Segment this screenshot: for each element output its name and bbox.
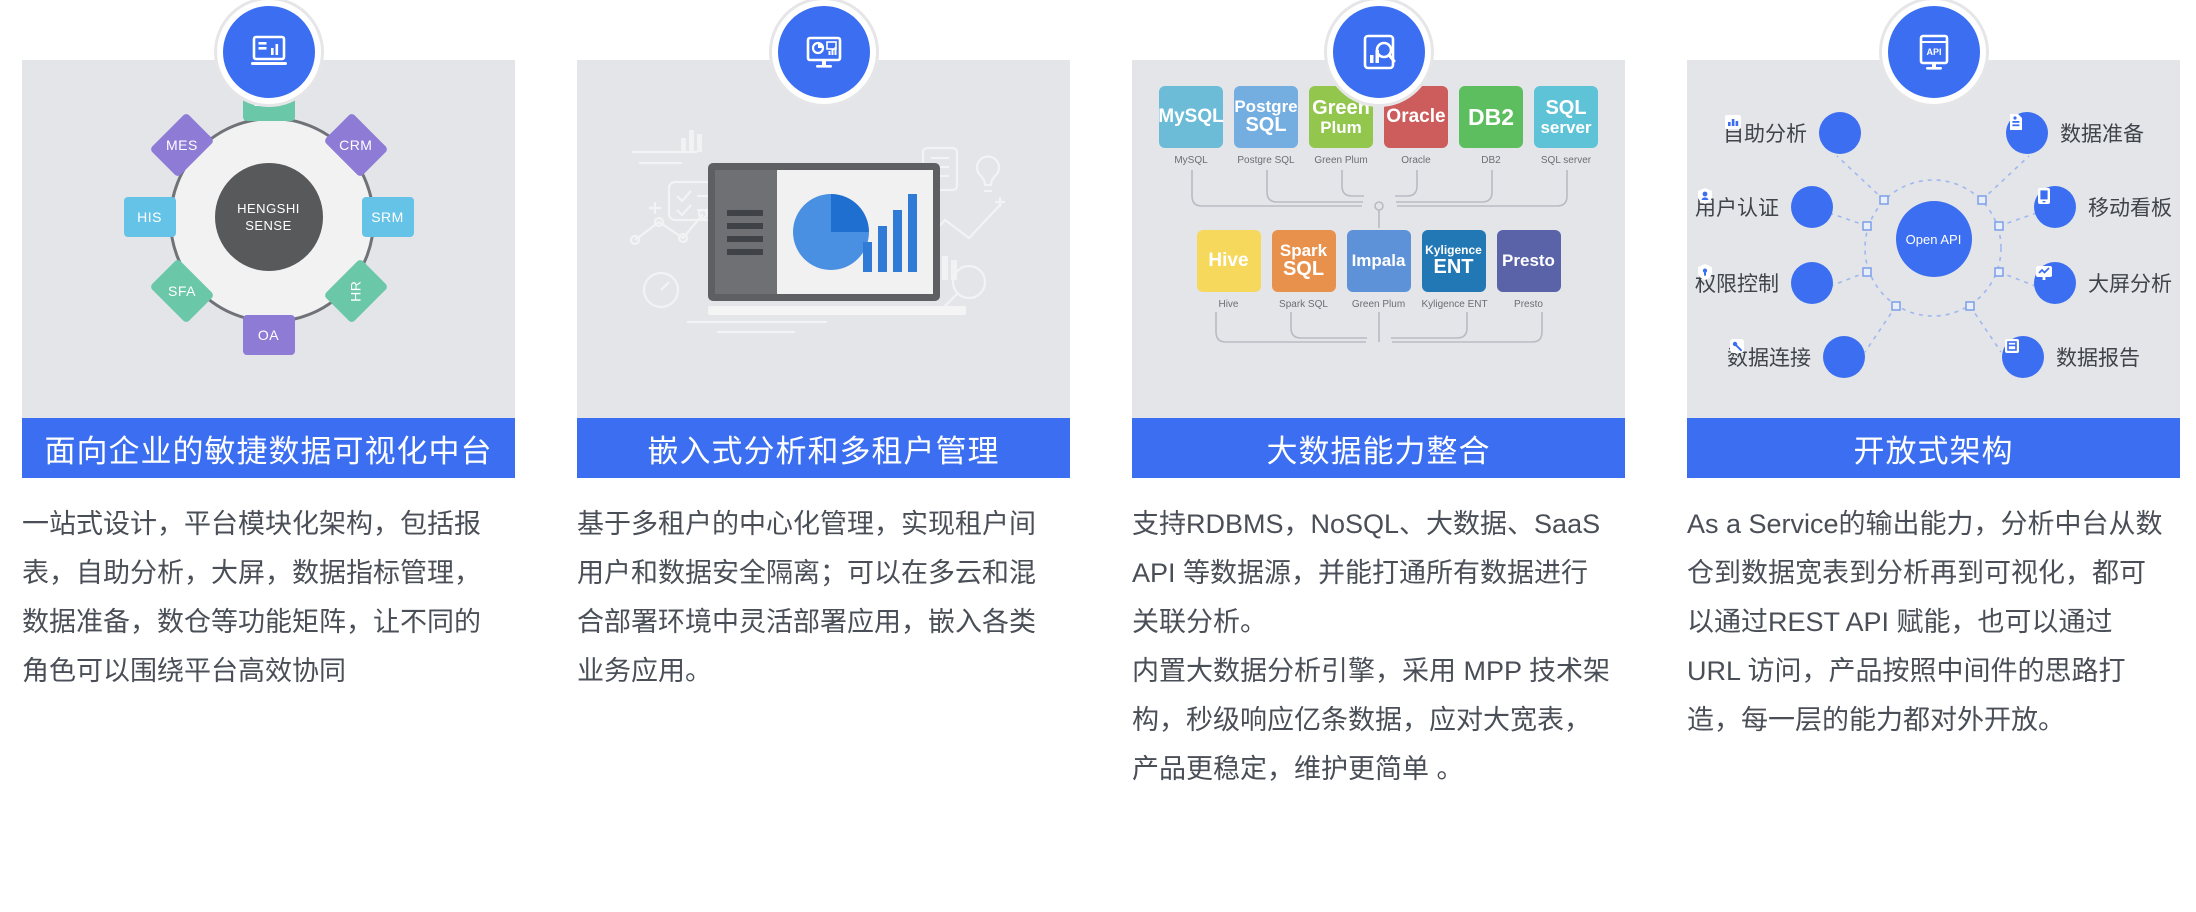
card-1-illustration: HENGSHI SENSE ERP CRM SRM HR OA SFA HIS … <box>22 60 515 418</box>
card-3-title: 大数据能力整合 <box>1132 418 1625 478</box>
plug-link-icon <box>1823 336 1865 378</box>
card-2-paragraph-1: 基于多租户的中心化管理，实现租户间用户和数据安全隔离；可以在多云和混合部署环境中… <box>577 500 1060 696</box>
connector-top <box>1132 168 1625 228</box>
shield-lock-icon <box>1791 262 1833 304</box>
card-1-body: 一站式设计，平台模块化架构，包括报表，自助分析，大屏，数据指标管理，数据准备，数… <box>22 500 515 696</box>
pie-chart <box>793 194 869 270</box>
card-3-body: 支持RDBMS，NoSQL、大数据、SaaS API 等数据源，并能打通所有数据… <box>1132 500 1625 794</box>
datasource-item: Kyligence ENT Kyligence ENT <box>1422 230 1486 310</box>
datasource-row-bottom: Hive Hive Spark SQL Spark SQL Impala <box>1132 230 1625 310</box>
network-node-data-prep: 数据准备 <box>2006 112 2144 154</box>
hub-label-line1: HENGSHI <box>237 200 300 217</box>
hub-node-srm: SRM <box>362 197 414 237</box>
card-4-body: As a Service的输出能力，分析中台从数仓到数据宽表到分析再到可视化，都… <box>1687 500 2180 745</box>
cards-row: HENGSHI SENSE ERP CRM SRM HR OA SFA HIS … <box>0 0 2196 912</box>
hub-label-line2: SENSE <box>245 217 292 234</box>
datasource-item: MySQL MySQL <box>1159 86 1223 166</box>
open-api-label: Open API <box>1906 232 1962 247</box>
screen-sidebar <box>715 170 777 294</box>
card-1-title: 面向企业的敏捷数据可视化中台 <box>22 418 515 478</box>
card-2-title: 嵌入式分析和多租户管理 <box>577 418 1070 478</box>
open-api-network: Open API 自助分析 用户认证 <box>1687 60 2180 418</box>
datasource-item: Hive Hive <box>1197 230 1261 310</box>
dashboard-screen-icon <box>217 0 321 104</box>
card-2-body: 基于多租户的中心化管理，实现租户间用户和数据安全隔离；可以在多云和混合部署环境中… <box>577 500 1070 696</box>
card-3-illustration: MySQL MySQL Postgre SQL Postgre SQL <box>1132 60 1625 418</box>
network-node-self-analysis: 自助分析 <box>1723 112 1861 154</box>
datasource-item: DB2 DB2 <box>1459 86 1523 166</box>
laptop-screen <box>708 163 940 301</box>
network-node-permission: 权限控制 <box>1695 262 1833 304</box>
monitor-analytics-icon <box>772 0 876 104</box>
api-monitor-icon: API <box>1882 0 1986 104</box>
card-3-paragraph-1: 支持RDBMS，NoSQL、大数据、SaaS API 等数据源，并能打通所有数据… <box>1132 500 1615 647</box>
open-api-center: Open API <box>1896 201 1972 277</box>
bar-chart-icon <box>1819 112 1861 154</box>
datasource-item: SQL server SQL server <box>1534 86 1598 166</box>
datasource-grid: MySQL MySQL Postgre SQL Postgre SQL <box>1132 86 1625 374</box>
document-icon <box>2006 112 2048 154</box>
screen-canvas <box>777 170 933 294</box>
card-2-illustration <box>577 60 1070 418</box>
connector-bottom <box>1132 312 1625 372</box>
user-verify-icon <box>1791 186 1833 228</box>
datasource-item: Impala Green Plum <box>1347 230 1411 310</box>
network-node-big-screen: 大屏分析 <box>2034 262 2172 304</box>
network-node-user-auth: 用户认证 <box>1695 186 1833 228</box>
hub-center: HENGSHI SENSE <box>215 163 323 271</box>
feature-cards-board: HENGSHI SENSE ERP CRM SRM HR OA SFA HIS … <box>0 0 2196 912</box>
bigdata-search-icon <box>1327 0 1431 104</box>
card-4-title: 开放式架构 <box>1687 418 2180 478</box>
big-screen-icon <box>2034 262 2076 304</box>
datasource-item: Spark SQL Spark SQL <box>1272 230 1336 310</box>
network-node-data-report: 数据报告 <box>2002 336 2140 378</box>
network-node-mobile-board: 移动看板 <box>2034 186 2172 228</box>
hub-and-spoke-diagram: HENGSHI SENSE ERP CRM SRM HR OA SFA HIS … <box>104 89 434 389</box>
laptop-base <box>708 306 966 315</box>
bar-chart <box>863 194 917 272</box>
feature-card-2: 嵌入式分析和多租户管理 基于多租户的中心化管理，实现租户间用户和数据安全隔离；可… <box>577 0 1070 696</box>
hub-node-oa: OA <box>243 315 295 355</box>
card-1-paragraph-1: 一站式设计，平台模块化架构，包括报表，自助分析，大屏，数据指标管理，数据准备，数… <box>22 500 505 696</box>
feature-card-1: HENGSHI SENSE ERP CRM SRM HR OA SFA HIS … <box>22 0 515 696</box>
hub-node-his: HIS <box>124 197 176 237</box>
network-node-data-connection: 数据连接 <box>1727 336 1865 378</box>
feature-card-4: API <box>1687 0 2180 745</box>
mobile-board-icon <box>2034 186 2076 228</box>
datasource-item: Postgre SQL Postgre SQL <box>1234 86 1298 166</box>
card-3-paragraph-2: 内置大数据分析引擎，采用 MPP 技术架构，秒级响应亿条数据，应对大宽表，产品更… <box>1132 647 1615 794</box>
datasource-item: Presto Presto <box>1497 230 1561 310</box>
card-4-paragraph-1: As a Service的输出能力，分析中台从数仓到数据宽表到分析再到可视化，都… <box>1687 500 2170 745</box>
report-icon <box>2002 336 2044 378</box>
feature-card-3: MySQL MySQL Postgre SQL Postgre SQL <box>1132 0 1625 794</box>
laptop-dashboard <box>708 163 940 315</box>
svg-text:API: API <box>1926 47 1941 57</box>
card-4-illustration: Open API 自助分析 用户认证 <box>1687 60 2180 418</box>
